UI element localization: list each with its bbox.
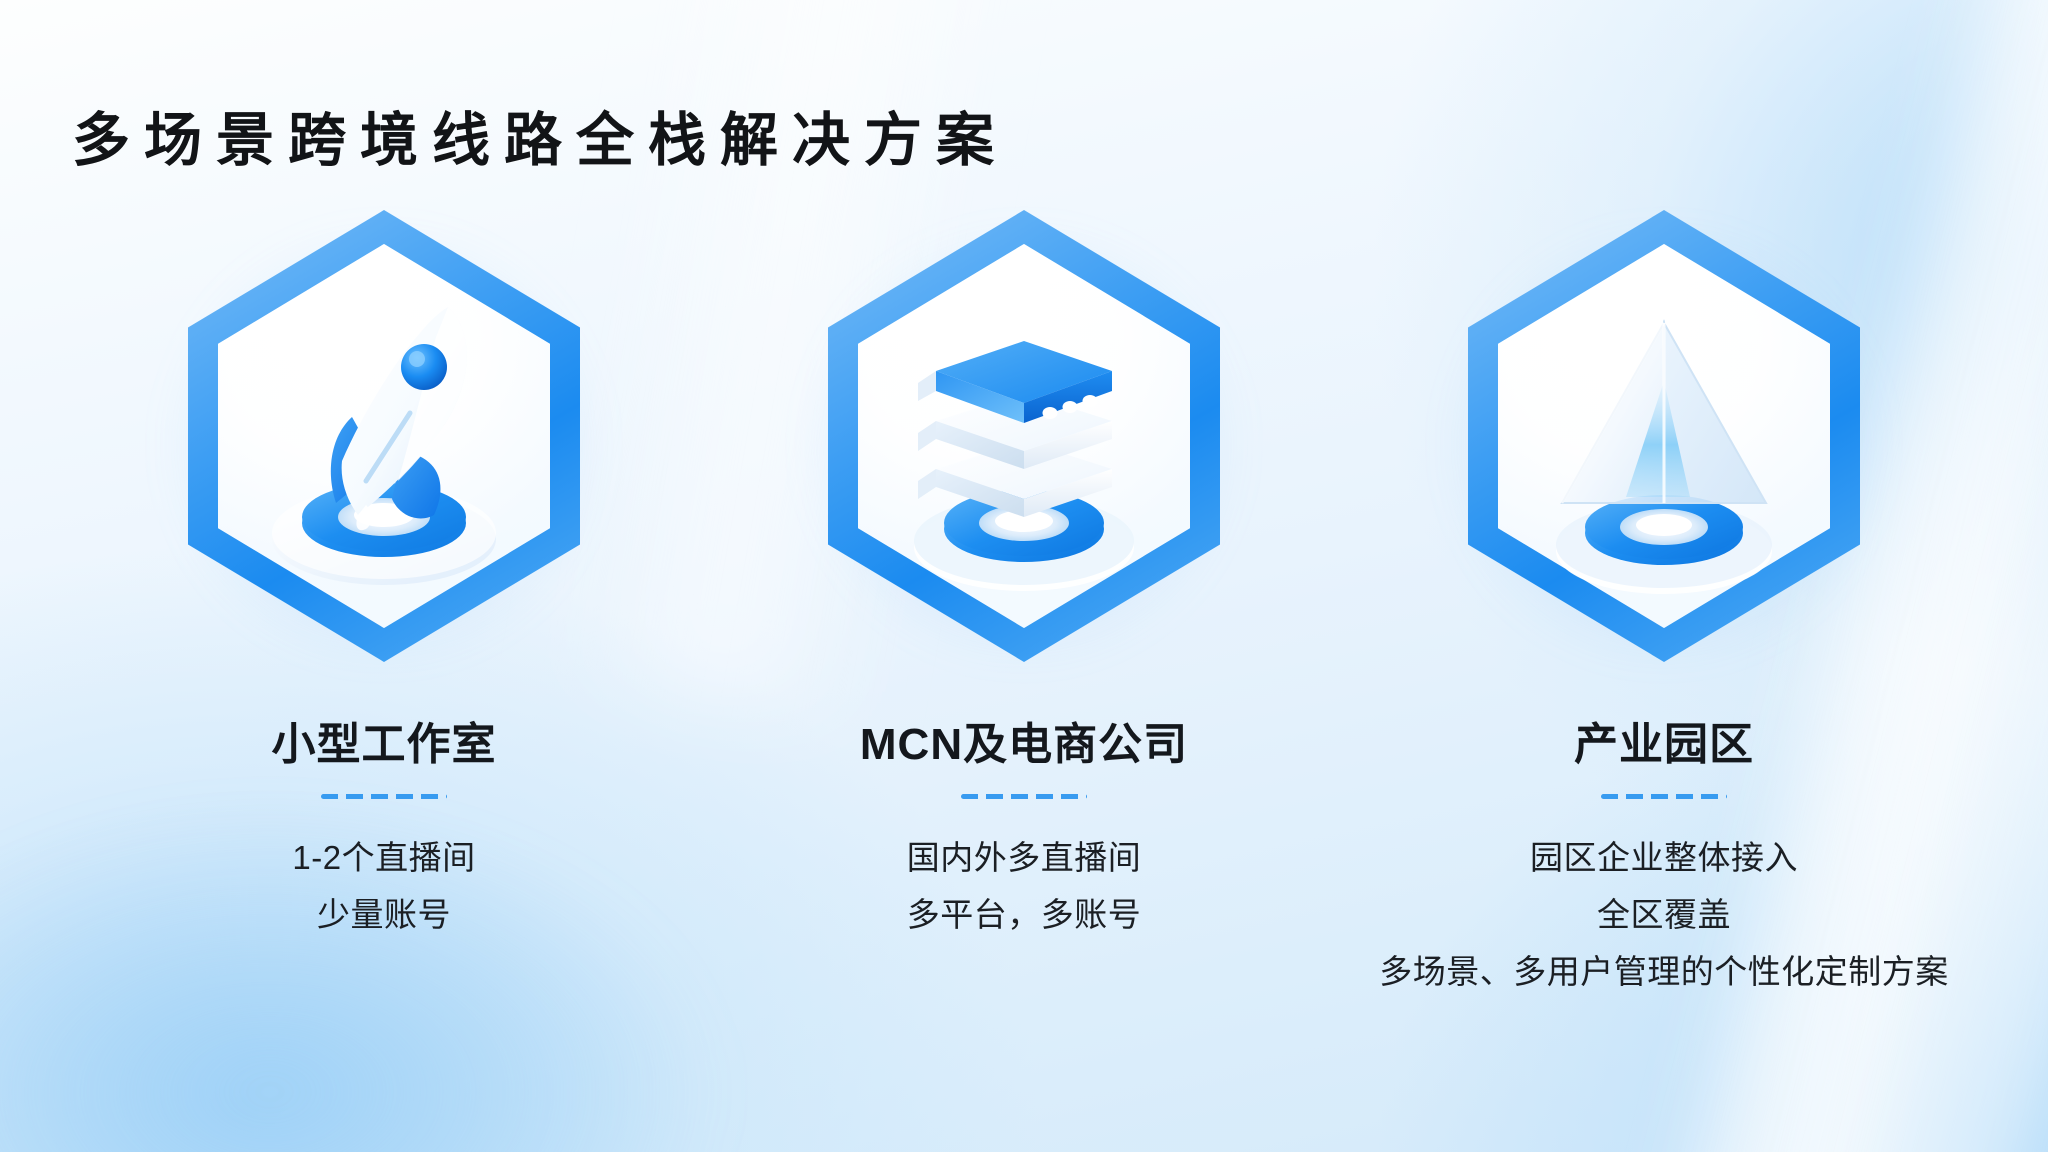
server-stack-icon — [874, 271, 1174, 601]
card-description: 园区企业整体接入 全区覆盖 多场景、多用户管理的个性化定制方案 — [1379, 829, 1949, 1000]
dashed-divider — [961, 794, 1087, 799]
solution-card-list: 小型工作室 1-2个直播间 少量账号 — [0, 210, 2048, 1000]
dashed-divider — [1601, 794, 1727, 799]
card-line: 园区企业整体接入 — [1379, 829, 1949, 886]
card-line: 多平台，多账号 — [907, 886, 1142, 943]
slide-canvas: 多场景跨境线路全栈解决方案 — [0, 0, 2048, 1152]
card-line: 少量账号 — [292, 886, 475, 943]
rocket-icon — [234, 271, 534, 601]
card-line: 1-2个直播间 — [292, 829, 475, 886]
card-title: 产业园区 — [1574, 708, 1754, 772]
solution-card[interactable]: MCN及电商公司 国内外多直播间 多平台，多账号 — [704, 210, 1344, 943]
hexagon-badge — [188, 210, 580, 662]
hexagon-badge — [1468, 210, 1860, 662]
dashed-divider — [321, 794, 447, 799]
glass-pyramid-icon — [1514, 271, 1814, 601]
solution-card[interactable]: 产业园区 园区企业整体接入 全区覆盖 多场景、多用户管理的个性化定制方案 — [1344, 210, 1984, 1000]
card-line: 国内外多直播间 — [907, 829, 1142, 886]
card-line: 多场景、多用户管理的个性化定制方案 — [1379, 943, 1949, 1000]
page-title: 多场景跨境线路全栈解决方案 — [72, 93, 1008, 177]
hexagon-badge — [828, 210, 1220, 662]
card-description: 国内外多直播间 多平台，多账号 — [907, 829, 1142, 943]
card-description: 1-2个直播间 少量账号 — [292, 829, 475, 943]
card-line: 全区覆盖 — [1379, 886, 1949, 943]
card-title: 小型工作室 — [272, 708, 497, 772]
card-title: MCN及电商公司 — [860, 708, 1188, 772]
solution-card[interactable]: 小型工作室 1-2个直播间 少量账号 — [64, 210, 704, 943]
